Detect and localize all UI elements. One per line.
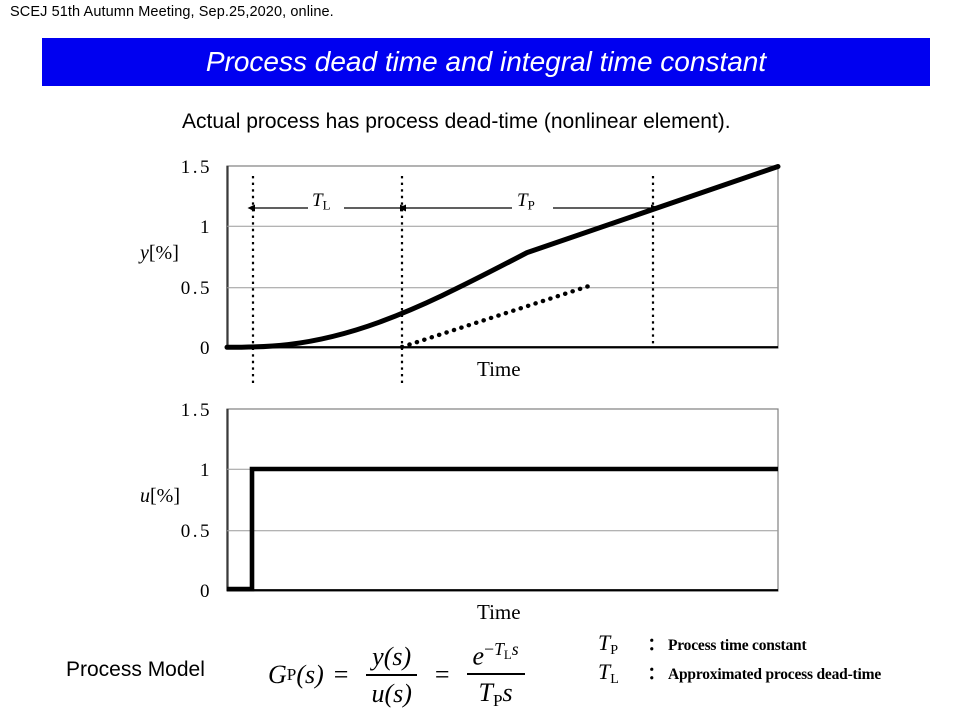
formula-exponent: −TLs (484, 640, 518, 662)
legend-symbol-TL-subscript: L (610, 671, 619, 687)
formula-G: G (268, 660, 287, 690)
formula-fraction-y-over-u: y(s) u(s) (365, 642, 417, 707)
formula-den-s: s (503, 678, 513, 707)
formula-equals-2: = (435, 660, 450, 690)
formula-den-T-subscript: P (493, 691, 503, 710)
legend-colon-TL: ： (644, 659, 668, 684)
legend-symbol-TP-char: T (598, 630, 610, 655)
slide-canvas: SCEJ 51th Autumn Meeting, Sep.25,2020, o… (0, 0, 960, 720)
formula-equals-1: = (334, 660, 349, 690)
formula-G-subscript: P (287, 665, 297, 685)
symbol-legend: TP ： Process time constant TL ： Approxim… (598, 630, 881, 688)
formula-G-arg: (s) (296, 660, 323, 690)
legend-symbol-TL: TL (598, 659, 644, 688)
legend-description-TL: Approximated process dead-time (668, 666, 881, 684)
legend-symbol-TP-subscript: P (610, 642, 618, 658)
legend-description-TP: Process time constant (668, 637, 806, 655)
legend-colon-TP: ： (644, 630, 668, 655)
chart2-x-axis-label: Time (477, 600, 521, 625)
formula-exponent-T-subscript: L (504, 648, 512, 662)
chart2-plot-frame (227, 409, 778, 591)
process-model-label: Process Model (66, 658, 205, 682)
formula-numerator-exp: e−TLs (467, 640, 525, 675)
legend-symbol-TP: TP (598, 630, 644, 659)
formula-numerator-ys: y(s) (366, 642, 417, 675)
legend-symbol-TL-char: T (598, 659, 610, 684)
formula-denominator-us: u(s) (365, 676, 417, 708)
process-model-formula: GP(s) = y(s) u(s) = e−TLs TPs (268, 640, 532, 710)
formula-exponent-T: T (494, 639, 504, 659)
formula-exponent-s: s (512, 639, 519, 659)
formula-e: e (473, 642, 485, 671)
legend-row-TL: TL ： Approximated process dead-time (598, 659, 881, 688)
formula-denominator-Tps: TPs (472, 675, 518, 710)
formula-den-T: T (478, 678, 492, 707)
formula-fraction-exp-over-Tps: e−TLs TPs (467, 640, 525, 710)
formula-exponent-minus: − (484, 639, 494, 659)
legend-row-TP: TP ： Process time constant (598, 630, 881, 659)
